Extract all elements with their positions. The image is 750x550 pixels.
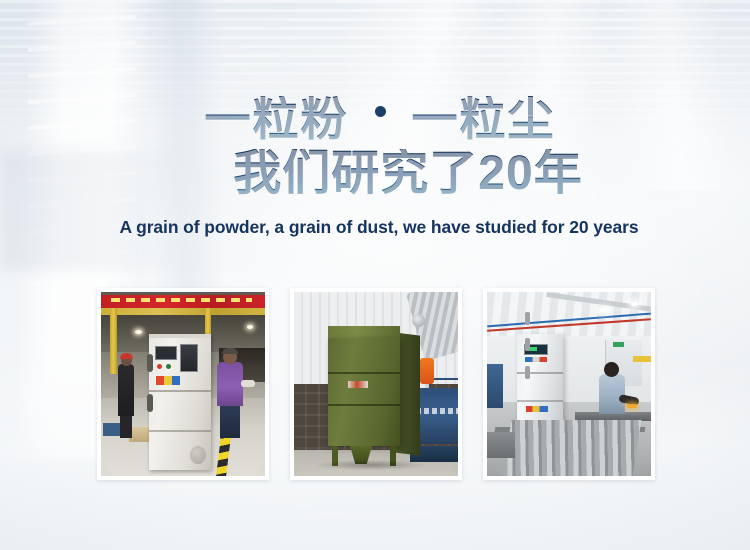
headline-block: 一粒粉一粒尘 我们研究了20年 A grain of powder, a gra… [0, 96, 750, 238]
headline-subtitle: A grain of powder, a grain of dust, we h… [0, 217, 750, 238]
p1-worker-right-legs [220, 404, 240, 438]
p1-door-handle [147, 354, 153, 372]
p1-stop-button-icon [157, 364, 162, 369]
p1-brand-label [156, 376, 180, 385]
p2-worker-second [420, 358, 434, 384]
p1-yellow-beam [101, 308, 265, 315]
p3-blue-equipment [487, 364, 503, 408]
p2-panel-seam [328, 404, 400, 406]
p1-worker-right-body [217, 362, 243, 406]
p2-ground-shadow [316, 460, 426, 470]
p3-ceiling-lamp [599, 308, 607, 312]
p1-carton [129, 427, 149, 442]
headline-phrase-powder: 一粒粉 [205, 93, 349, 145]
headline-phrase-dust: 一粒尘 [412, 93, 556, 145]
headline-line-1: 一粒粉一粒尘 [0, 96, 750, 143]
p1-red-banner [101, 295, 265, 308]
product-photo-1-image [101, 292, 265, 476]
p1-door-handle [147, 394, 153, 412]
p1-ceiling-lamp [247, 325, 253, 329]
p3-door-handle [525, 338, 530, 351]
p1-control-box [180, 344, 198, 372]
p2-duct-joint [412, 314, 425, 327]
p3-work-spark [627, 404, 637, 408]
promo-banner: 一粒粉一粒尘 我们研究了20年 A grain of powder, a gra… [0, 0, 750, 550]
p1-worker-left-cap [120, 353, 133, 359]
p3-metal-rails [503, 420, 642, 476]
p1-column-left [110, 308, 117, 374]
p3-brand-label [526, 406, 548, 412]
p3-worker-head [604, 362, 619, 377]
product-photo-3[interactable] [483, 288, 655, 480]
headline-line-2: 我们研究了20年 [0, 149, 750, 199]
p1-start-button-icon [166, 364, 171, 369]
p1-worker-left-body [118, 364, 134, 416]
p1-ceiling-lamp [135, 330, 142, 334]
p3-door-handle [525, 312, 530, 325]
product-photo-3-image [487, 292, 651, 476]
p2-brand-plate [348, 381, 368, 388]
p3-metal-crate [487, 432, 515, 458]
product-photo-2-image [294, 292, 458, 476]
p3-control-buttons [525, 357, 547, 362]
p2-panel-seam [328, 372, 400, 374]
p3-ceiling-lamp [631, 302, 638, 306]
p1-panel-seam [149, 390, 211, 392]
dot-separator-icon [375, 106, 386, 117]
p1-worker-right-glove [241, 380, 255, 387]
p2-lift-marking [416, 408, 458, 414]
p3-yellow-notice [633, 356, 651, 362]
p1-worker-right-cap [222, 348, 238, 354]
p3-door-handle [525, 366, 530, 379]
p1-dust-collector-cabinet [149, 334, 211, 470]
p3-panel-seam [517, 372, 563, 374]
p1-access-port [190, 446, 206, 464]
p1-control-display [155, 346, 177, 360]
p2-dust-collector-cabinet [328, 338, 400, 446]
product-photo-2[interactable] [290, 288, 462, 480]
p3-panel-seam [517, 400, 563, 402]
p1-panel-seam [149, 430, 211, 432]
p3-exit-sign-icon [613, 342, 624, 347]
p1-worker-left-legs [120, 414, 132, 438]
product-photo-1[interactable] [97, 288, 269, 480]
product-photo-row [97, 288, 655, 480]
